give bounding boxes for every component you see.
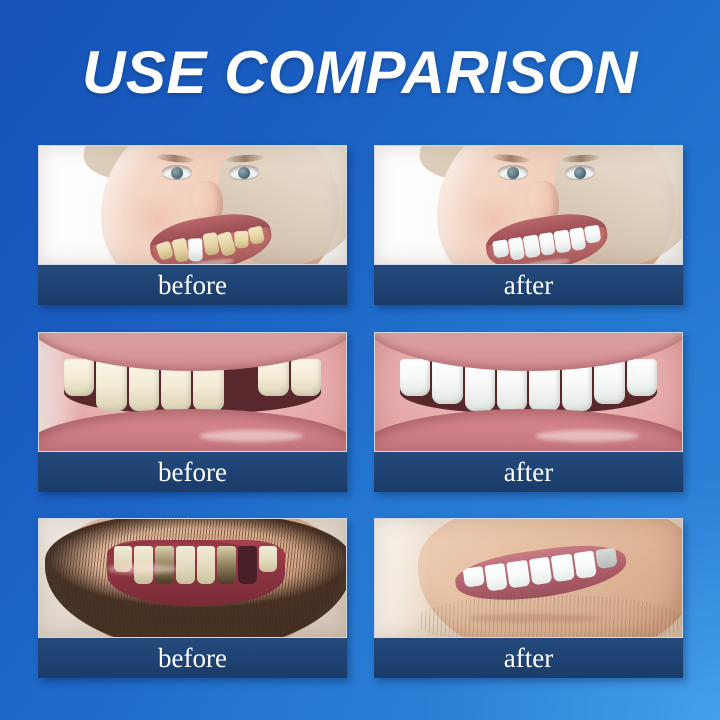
after-photo xyxy=(374,518,683,638)
after-panel[interactable]: after xyxy=(374,332,683,492)
before-photo xyxy=(38,145,347,265)
before-panel[interactable]: before xyxy=(38,145,347,305)
before-panel[interactable]: before xyxy=(38,332,347,492)
after-label: after xyxy=(374,638,683,678)
page-title: USE COMPARISON xyxy=(0,38,720,108)
after-photo xyxy=(374,145,683,265)
comparison-grid: before xyxy=(38,145,682,675)
comparison-row: before xyxy=(38,332,682,492)
after-label: after xyxy=(374,452,683,492)
before-label: before xyxy=(38,265,347,305)
after-panel[interactable]: after xyxy=(374,518,683,678)
after-photo xyxy=(374,332,683,452)
before-label: before xyxy=(38,452,347,492)
before-label: before xyxy=(38,638,347,678)
before-photo xyxy=(38,518,347,638)
before-photo xyxy=(38,332,347,452)
before-panel[interactable]: before xyxy=(38,518,347,678)
after-label: after xyxy=(374,265,683,305)
comparison-row: before xyxy=(38,518,682,678)
comparison-poster: USE COMPARISON xyxy=(0,0,720,720)
comparison-row: before xyxy=(38,145,682,305)
after-panel[interactable]: after xyxy=(374,145,683,305)
